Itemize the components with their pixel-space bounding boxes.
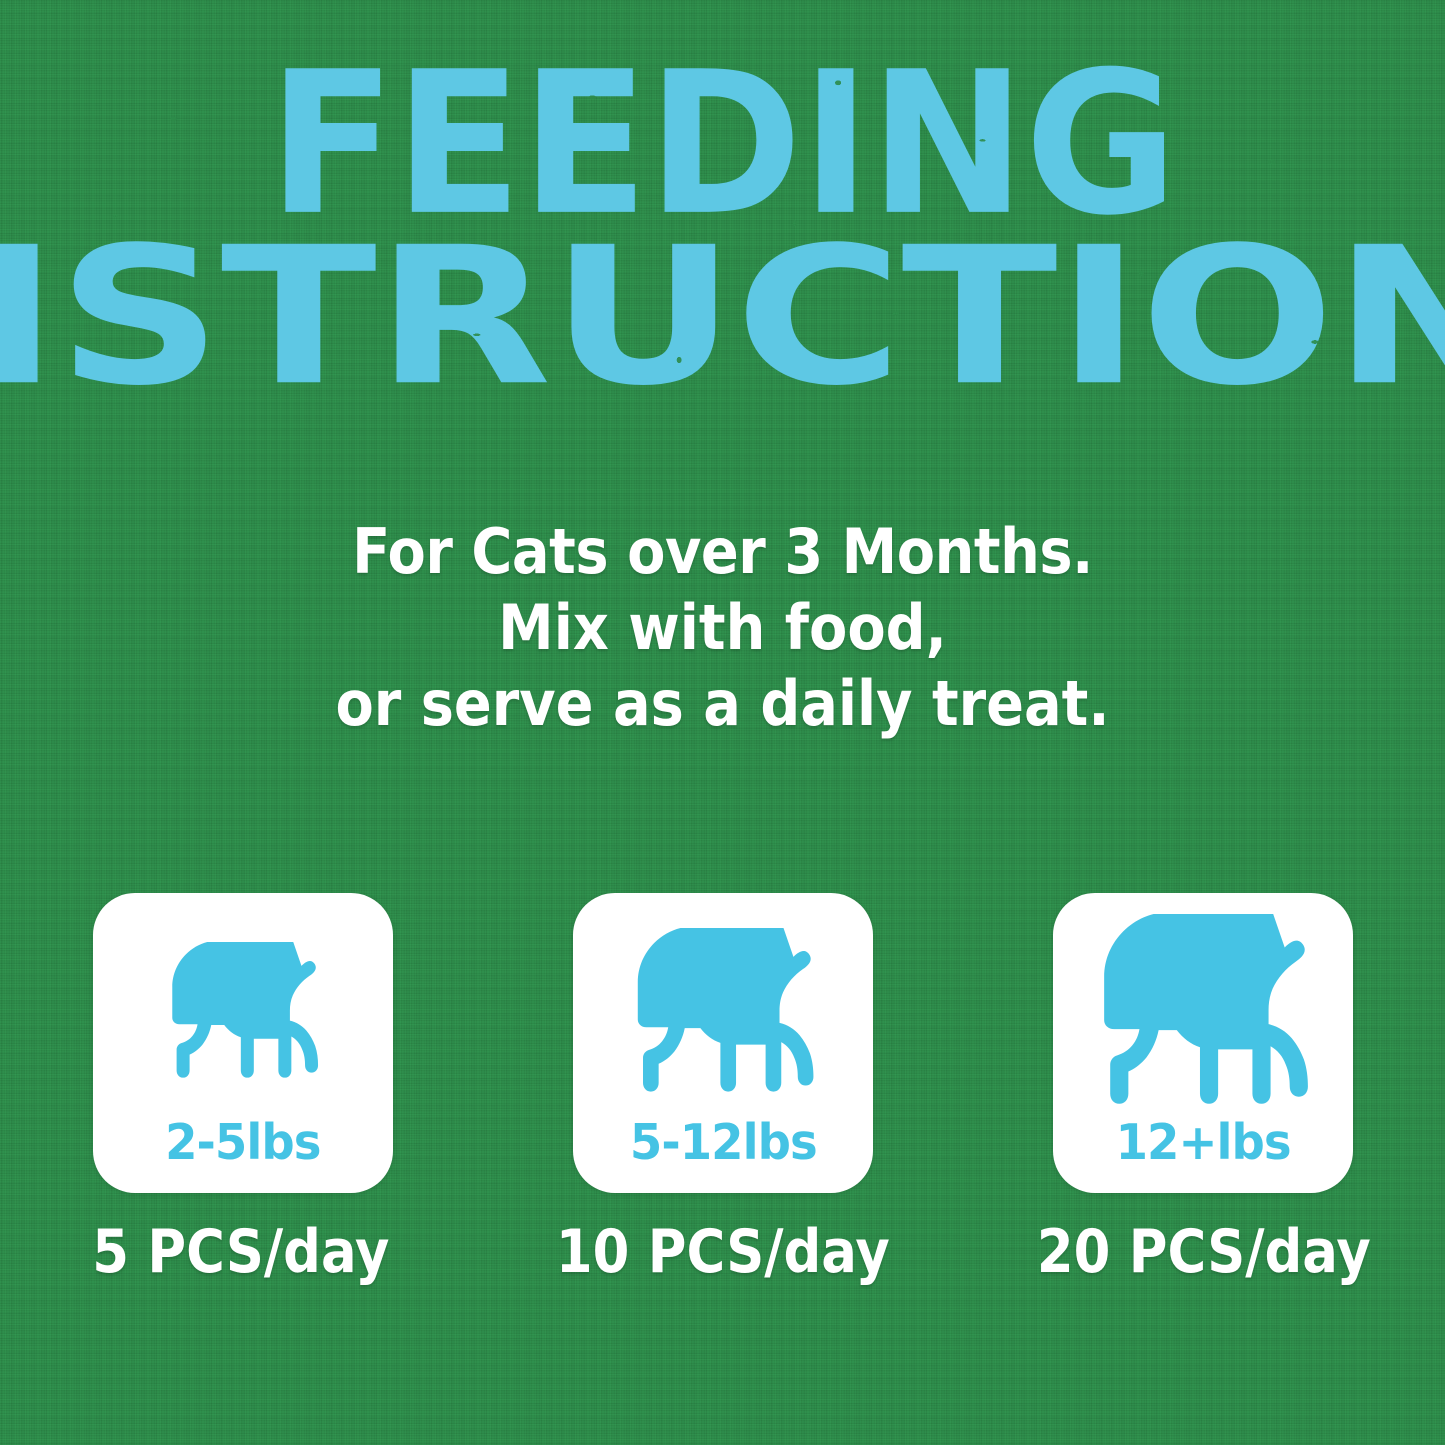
subtitle-line-age: For Cats over 3 Months.: [72, 520, 1373, 583]
weight-cards-row: 2-5lbs 5-12lbs 12+lbs: [93, 893, 1353, 1193]
cat-icon-wrap: [573, 893, 873, 1131]
cat-silhouette-icon: [1087, 914, 1319, 1110]
cat-icon-wrap: [93, 893, 393, 1131]
headline-line-instructions: INSTRUCTIONS: [0, 230, 1445, 405]
subtitle-line-mix: Mix with food,: [72, 596, 1373, 659]
cat-icon-wrap: [1053, 893, 1353, 1131]
poster-content: FEEDING INSTRUCTIONS For Cats over 3 Mon…: [0, 0, 1445, 1445]
dosage-label-small: 5 PCS/day: [29, 1222, 453, 1302]
weight-card-large: 12+lbs: [1053, 893, 1353, 1193]
dosage-row: 5 PCS/day 10 PCS/day 20 PCS/day: [0, 1222, 1445, 1302]
weight-card-medium: 5-12lbs: [573, 893, 873, 1193]
page-title: FEEDING INSTRUCTIONS: [0, 54, 1445, 392]
subtitle-block: For Cats over 3 Months. Mix with food, o…: [0, 520, 1445, 736]
cat-silhouette-icon: [160, 942, 326, 1082]
dosage-label-large: 20 PCS/day: [992, 1222, 1416, 1302]
cat-silhouette-icon: [623, 928, 823, 1097]
weight-label: 5-12lbs: [630, 1118, 817, 1167]
subtitle-line-treat: or serve as a daily treat.: [72, 672, 1373, 735]
weight-label: 2-5lbs: [165, 1118, 320, 1167]
dosage-label-medium: 10 PCS/day: [511, 1222, 935, 1302]
weight-label: 12+lbs: [1115, 1118, 1290, 1167]
weight-card-small: 2-5lbs: [93, 893, 393, 1193]
